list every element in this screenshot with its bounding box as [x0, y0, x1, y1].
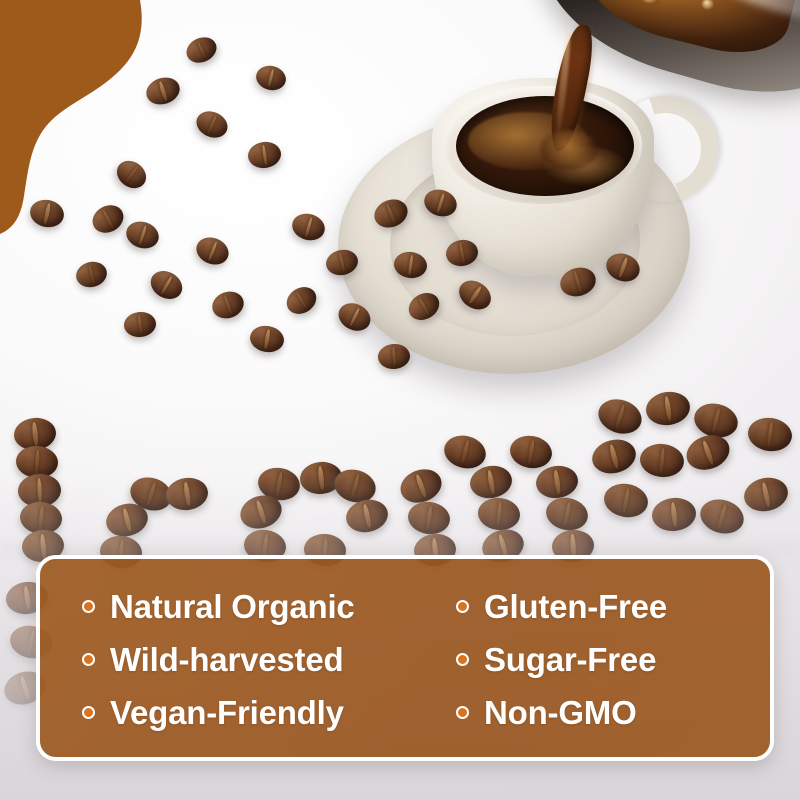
- feature-label: Vegan-Friendly: [110, 696, 344, 729]
- feature-item[interactable]: Gluten-Free: [456, 581, 738, 632]
- bullet-dot-icon: [456, 706, 469, 719]
- bullet-dot-icon: [82, 706, 95, 719]
- promo-canvas: Natural Organic Wild-harvested Vegan-Fri…: [0, 0, 800, 800]
- features-column-right: Gluten-Free Sugar-Free Non-GMO: [438, 559, 738, 757]
- feature-item[interactable]: Natural Organic: [82, 581, 438, 632]
- feature-label: Natural Organic: [110, 590, 355, 623]
- features-panel: Natural Organic Wild-harvested Vegan-Fri…: [36, 555, 774, 761]
- feature-label: Wild-harvested: [110, 643, 343, 676]
- bullet-dot-icon: [456, 653, 469, 666]
- feature-label: Sugar-Free: [484, 643, 656, 676]
- brown-wave-shape: [0, 0, 170, 240]
- pour-splash: [540, 130, 598, 170]
- feature-label: Non-GMO: [484, 696, 637, 729]
- feature-item[interactable]: Non-GMO: [456, 687, 738, 738]
- bullet-dot-icon: [456, 600, 469, 613]
- feature-item[interactable]: Sugar-Free: [456, 634, 738, 685]
- bullet-dot-icon: [82, 653, 95, 666]
- feature-label: Gluten-Free: [484, 590, 667, 623]
- feature-item[interactable]: Wild-harvested: [82, 634, 438, 685]
- features-column-left: Natural Organic Wild-harvested Vegan-Fri…: [40, 559, 438, 757]
- feature-item[interactable]: Vegan-Friendly: [82, 687, 438, 738]
- bullet-dot-icon: [82, 600, 95, 613]
